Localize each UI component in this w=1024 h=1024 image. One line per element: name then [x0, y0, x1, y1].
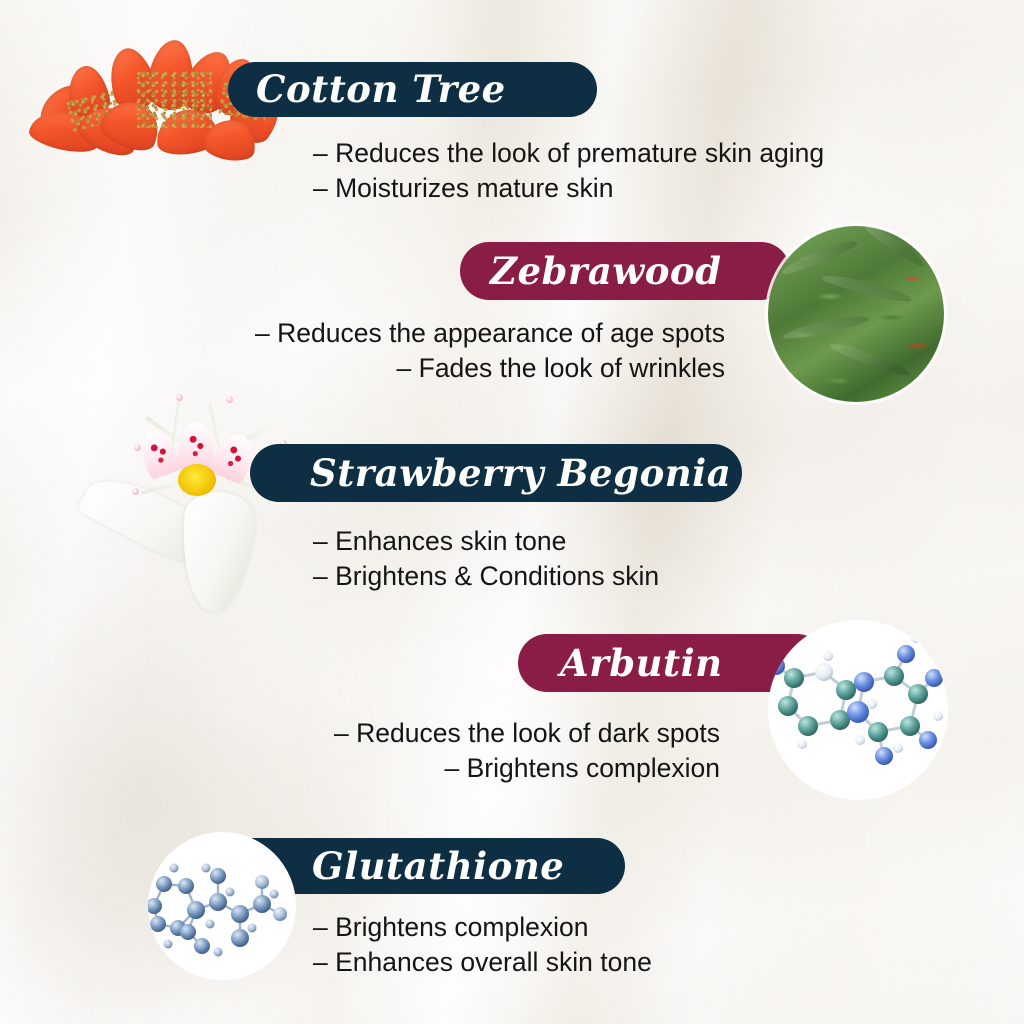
bullet-item: – Reduces the look of premature skin agi… — [313, 136, 824, 171]
zebrawood-leaves-image — [768, 226, 944, 402]
flower-anther — [226, 396, 233, 403]
arbutin-molecule-image — [768, 620, 948, 800]
section-title-zebrawood: Zebrawood — [490, 253, 721, 290]
section-bullets-zebrawood: – Reduces the appearance of age spots – … — [155, 316, 725, 386]
section-pill-strawberry-begonia: Strawberry Begonia — [250, 444, 742, 502]
bullet-item: – Fades the look of wrinkles — [155, 351, 725, 386]
section-bullets-cotton-tree: – Reduces the look of premature skin agi… — [313, 136, 824, 206]
flower-anther — [176, 394, 183, 401]
section-title-cotton-tree: Cotton Tree — [256, 71, 506, 108]
bullet-item: – Enhances skin tone — [313, 524, 659, 559]
bullet-item: – Reduces the appearance of age spots — [155, 316, 725, 351]
bullet-item: – Moisturizes mature skin — [313, 171, 824, 206]
section-pill-cotton-tree: Cotton Tree — [228, 62, 597, 117]
bullet-item: – Brightens & Conditions skin — [313, 559, 659, 594]
leaf-texture — [768, 226, 944, 402]
section-title-arbutin: Arbutin — [560, 645, 723, 682]
bullet-item: – Brightens complexion — [313, 910, 652, 945]
bullet-item: – Reduces the look of dark spots — [200, 716, 720, 751]
flower-anther — [134, 444, 141, 451]
bullet-item: – Enhances overall skin tone — [313, 945, 652, 980]
flower-anther — [132, 488, 139, 495]
section-bullets-glutathione: – Brightens complexion – Enhances overal… — [313, 910, 652, 980]
glutathione-molecule-image — [148, 832, 296, 980]
section-bullets-arbutin: – Reduces the look of dark spots – Brigh… — [200, 716, 720, 786]
section-bullets-strawberry-begonia: – Enhances skin tone – Brightens & Condi… — [313, 524, 659, 594]
section-title-strawberry-begonia: Strawberry Begonia — [310, 455, 731, 492]
section-title-glutathione: Glutathione — [312, 848, 564, 885]
strawberry-begonia-flower-image — [78, 392, 308, 617]
infographic-canvas: Cotton Tree – Reduces the look of premat… — [0, 0, 1024, 1024]
section-pill-zebrawood: Zebrawood — [460, 242, 790, 300]
bullet-item: – Brightens complexion — [200, 751, 720, 786]
cotton-tree-flower-image — [28, 36, 278, 201]
